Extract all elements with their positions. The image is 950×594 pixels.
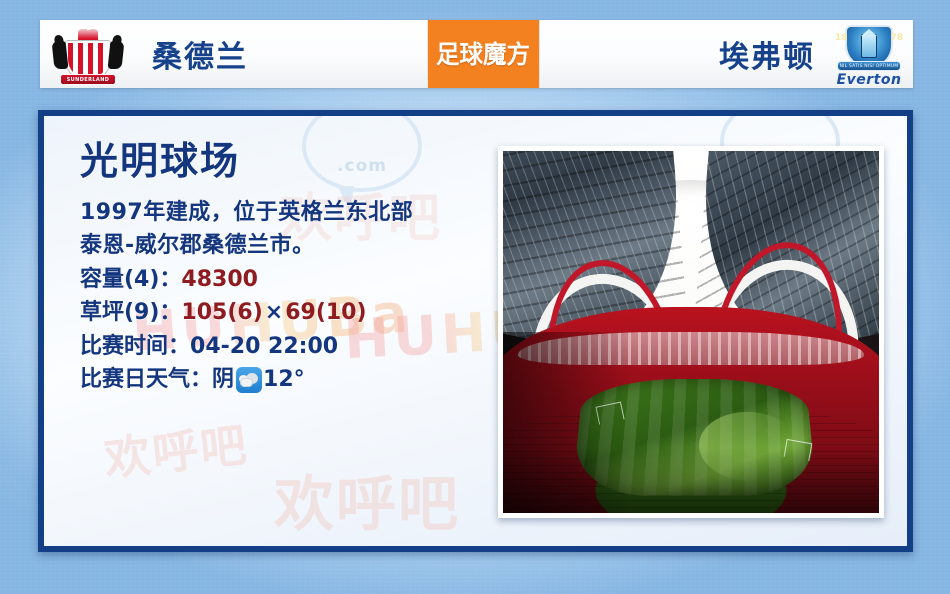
everton-year-left: 18 [835,33,848,43]
capacity-row: 容量(4)：48300 [80,263,500,296]
stadium-info-text-block: 光明球场 1997年建成，位于英格兰东北部 泰恩-威尔郡桑德兰市。 容量(4)：… [80,142,500,397]
kickoff-value: 04-20 22:00 [190,334,338,359]
pitch-size-separator: × [263,300,285,325]
weather-condition: 阴 [212,363,234,396]
weather-row: 比赛日天气：阴12° [80,363,500,396]
stadium-photo-frame[interactable] [498,146,884,518]
everton-wordmark: Everton [833,72,905,88]
kickoff-row: 比赛时间：04-20 22:00 [80,330,500,363]
pitch-size-label: 草坪(9)： [80,300,181,325]
brand-logo[interactable]: 足球魔方 [427,20,540,88]
weather-label: 比赛日天气： [80,363,212,396]
stadium-description-line-1: 1997年建成，位于英格兰东北部 [80,196,500,229]
kickoff-label: 比赛时间： [80,334,190,359]
everton-motto-ribbon: NIL SATIS NISI OPTIMUM [837,61,901,71]
everton-crest: 18 78 NIL SATIS NISI OPTIMUM Everton [833,21,905,87]
everton-tower-icon [861,34,877,58]
stadium-title: 光明球场 [80,142,500,182]
capacity-value: 48300 [181,267,258,292]
watermark-brand-cn-bottom: 欢呼吧 [274,456,460,543]
sunderland-crest: SUNDERLAND A.F.C. [52,21,124,87]
sunderland-lion-right-icon [108,41,125,69]
brand-logo-text: 足球魔方 [436,42,530,67]
pitch-length-value: 105(6) [181,300,262,325]
watermark-brand-cn-left: 欢呼吧 [101,409,251,490]
sunderland-scroll-text: SUNDERLAND A.F.C. [60,74,116,85]
away-team-name: 埃弗顿 [719,32,815,76]
pitch-size-row: 草坪(9)：105(6)×69(10) [80,296,500,329]
sunderland-lion-left-icon [52,41,69,69]
stadium-info-card-inner: .com .com HUHUBa HUHUBa 欢呼吧 欢呼吧 欢呼吧 光明球场… [44,116,907,546]
stadium-interior-photo [503,151,879,513]
home-team-name: 桑德兰 [152,32,248,76]
stadium-info-card: .com .com HUHUBa HUHUBa 欢呼吧 欢呼吧 欢呼吧 光明球场… [38,110,913,552]
stadium-description-line-2: 泰恩-威尔郡桑德兰市。 [80,229,500,262]
everton-year-right: 78 [890,33,903,43]
weather-temperature: 12° [263,363,305,396]
match-header-bar: SUNDERLAND A.F.C. 桑德兰 足球魔方 埃弗顿 18 78 NIL… [40,20,913,88]
cloudy-weather-icon [236,367,262,393]
pitch-width-value: 69(10) [285,300,366,325]
match-info-screen: SUNDERLAND A.F.C. 桑德兰 足球魔方 埃弗顿 18 78 NIL… [0,0,950,594]
photo-shadow-bottom [503,448,879,513]
capacity-label: 容量(4)： [80,267,181,292]
